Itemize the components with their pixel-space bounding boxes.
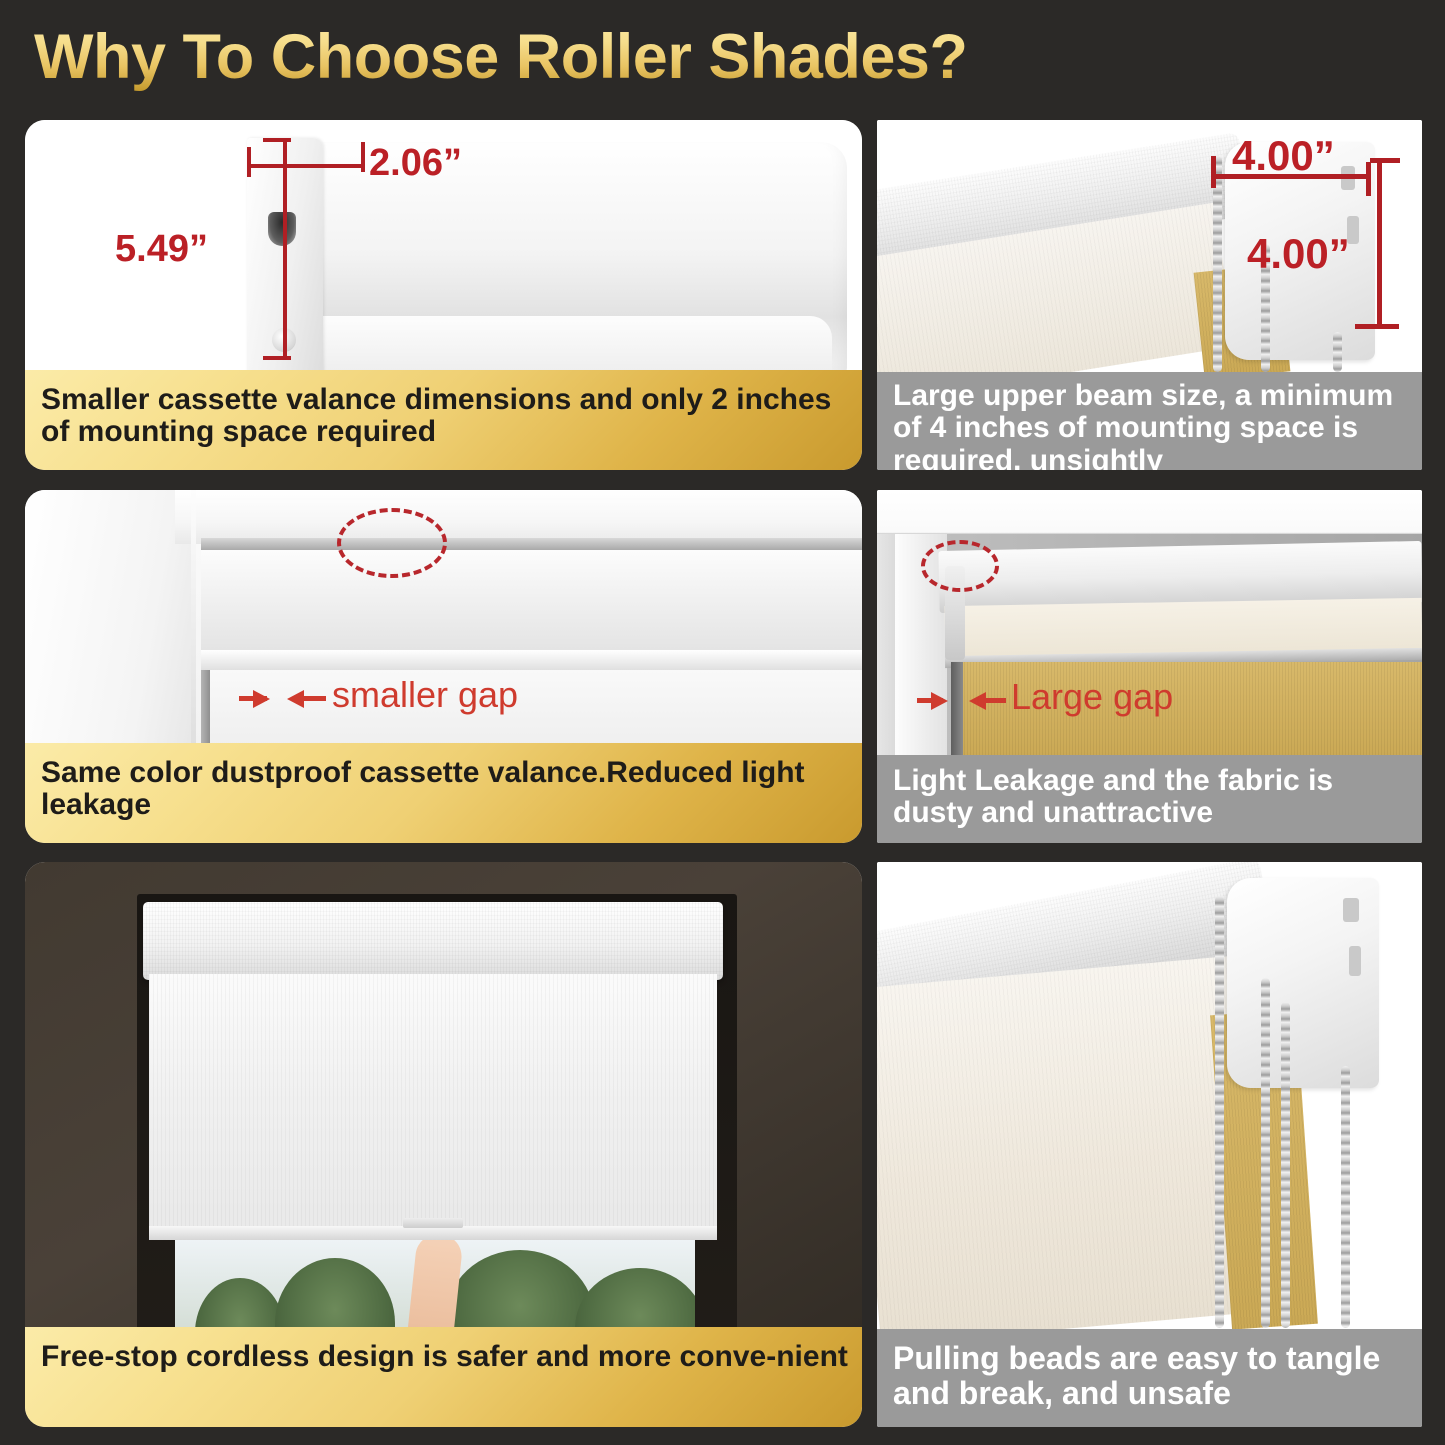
panel-cordless-design: Free-stop cordless design is safer and m…	[25, 862, 862, 1427]
bead-chain-left	[1213, 156, 1222, 372]
frame-edge-highlight	[191, 490, 196, 753]
beam-width-dimension-label: 4.00”	[1232, 132, 1335, 180]
panel-cordless-photo	[25, 862, 862, 1327]
tree-shape-3	[445, 1250, 595, 1327]
gap-arrow-right-icon	[253, 690, 270, 708]
leak-arrow-right-icon	[931, 692, 948, 710]
panel-upper-beam-caption: Large upper beam size, a minimum of 4 in…	[877, 372, 1422, 470]
smaller-gap-label: smaller gap	[332, 674, 518, 716]
gap-arrow-left-icon	[287, 690, 304, 708]
width-tick-right	[361, 142, 365, 172]
panel-dustproof-photo: smaller gap	[25, 490, 862, 753]
panel-cassette-dimensions: 2.06” 5.49” Smaller cassette valance dim…	[25, 120, 862, 470]
leak-highlight-ellipse	[921, 540, 999, 592]
cordless-shade-fabric	[149, 974, 717, 1234]
beads-chain-left	[1215, 896, 1224, 1328]
tree-shape-1	[195, 1278, 285, 1327]
beam-width-tick-left	[1211, 156, 1216, 188]
page-title: Why To Choose Roller Shades?	[34, 18, 1034, 96]
height-tick-top	[263, 138, 291, 142]
cordless-bottom-rail	[149, 1226, 717, 1240]
panel-dustproof-valance: smaller gap Same color dustproof cassett…	[25, 490, 862, 843]
panel-pulling-beads: Pulling beads are easy to tangle and bre…	[877, 862, 1422, 1427]
window-frame-left	[25, 490, 193, 753]
infographic-page: Why To Choose Roller Shades? 2.06” 5.49”…	[0, 0, 1445, 1445]
bracket-slot-icon	[268, 212, 296, 246]
panel-light-leakage-caption: Light Leakage and the fabric is dusty an…	[877, 755, 1422, 843]
window-frame-top	[175, 490, 862, 544]
panel-upper-beam-photo: 4.00” 4.00”	[877, 120, 1422, 372]
gap-arrow-stem-right	[304, 696, 326, 701]
beam-height-tick-top	[1370, 158, 1400, 163]
panel-dustproof-caption: Same color dustproof cassette valance.Re…	[25, 743, 862, 843]
shade-fabric-upper	[201, 550, 862, 650]
tree-shape-2	[275, 1258, 395, 1327]
panel-pulling-beads-photo	[877, 862, 1422, 1329]
shade-bottom-rail	[201, 650, 862, 670]
tree-shape-4	[575, 1268, 695, 1327]
width-dimension-label: 2.06”	[369, 142, 462, 185]
beads-chain-right	[1341, 1066, 1350, 1328]
panel-pulling-beads-caption: Pulling beads are easy to tangle and bre…	[877, 1329, 1422, 1427]
beam-height-dimension-label: 4.00”	[1247, 230, 1350, 278]
panel-light-leakage-photo: Large gap	[877, 490, 1422, 755]
beam-height-tick-bottom	[1355, 324, 1399, 329]
beads-chain-mid2	[1281, 1002, 1290, 1328]
panel-light-leakage: Large gap Light Leakage and the fabric i…	[877, 490, 1422, 843]
panel-large-upper-beam: 4.00” 4.00” Large upper beam size, a min…	[877, 120, 1422, 470]
panel-cordless-caption: Free-stop cordless design is safer and m…	[25, 1327, 862, 1427]
gap-highlight-ellipse	[337, 508, 447, 578]
cordless-rail-grip	[403, 1218, 463, 1228]
shade-fabric-lower	[207, 670, 862, 753]
cordless-valance-texture	[143, 902, 723, 980]
valance-bar	[201, 538, 862, 550]
panel-cassette-caption: Smaller cassette valance dimensions and …	[25, 370, 862, 470]
leak-dark-gap-edge	[951, 662, 963, 755]
width-dimension-line	[247, 164, 365, 168]
panel-cassette-photo: 2.06” 5.49”	[25, 120, 862, 370]
leak-arrow-left-icon	[969, 692, 986, 710]
beads-sheer-fabric	[877, 956, 1260, 1329]
height-dimension-line	[283, 138, 287, 360]
large-gap-label: Large gap	[1011, 676, 1173, 718]
leak-arrow-stem-right	[986, 698, 1006, 703]
beads-bracket-notch-top	[1343, 898, 1359, 922]
beads-chain-mid	[1261, 978, 1270, 1328]
width-tick-left	[247, 147, 251, 177]
beam-height-dimension-line	[1377, 158, 1382, 328]
beam-width-tick-right	[1366, 162, 1371, 196]
height-tick-bottom	[263, 356, 291, 360]
shade-side-edge	[201, 670, 210, 753]
bead-chain-right	[1333, 332, 1342, 372]
height-dimension-label: 5.49”	[115, 228, 208, 271]
beads-bracket-notch-mid	[1349, 946, 1361, 976]
cassette-lower-shape	[287, 316, 832, 370]
